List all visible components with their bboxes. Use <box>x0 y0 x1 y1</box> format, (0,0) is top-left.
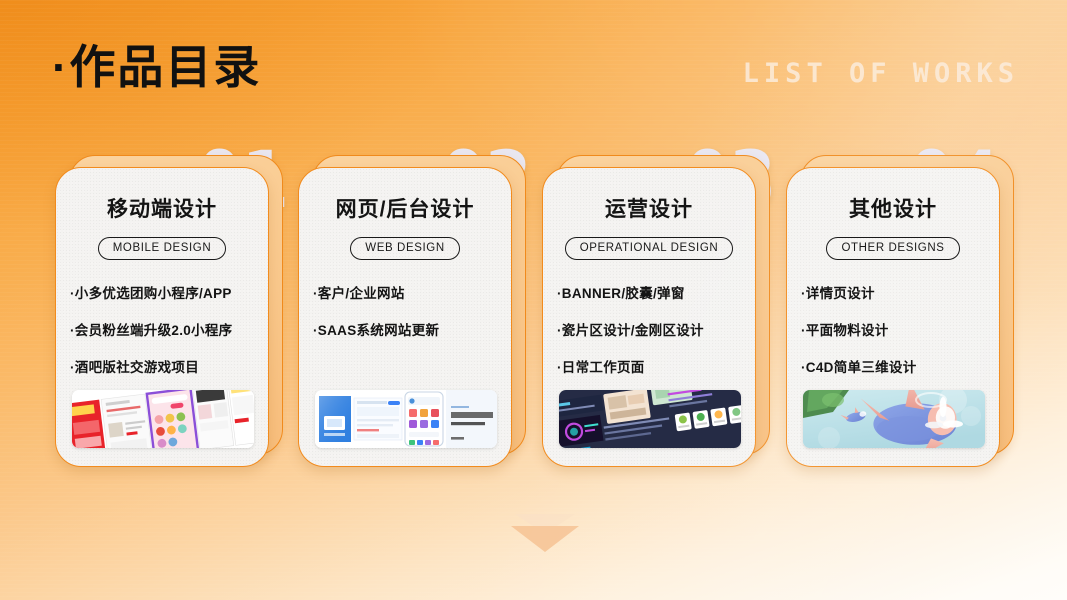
page-eyebrow-label: LIST OF WORKS <box>743 58 1019 89</box>
card-subtitle-pill: MOBILE DESIGN <box>98 237 227 260</box>
work-card-other-design[interactable]: 其他设计 OTHER DESIGNS ·详情页设计 ·平面物料设计 ·C4D简单… <box>786 167 1007 470</box>
card-title: 网页/后台设计 <box>299 193 511 223</box>
card-title: 移动端设计 <box>56 193 268 223</box>
card-subtitle-pill: OTHER DESIGNS <box>826 237 959 260</box>
work-card-operational-design[interactable]: 运营设计 OPERATIONAL DESIGN ·BANNER/胶囊/弹窗 ·瓷… <box>542 167 763 470</box>
card-title: 其他设计 <box>787 193 999 223</box>
card-bullet-item: ·日常工作页面 <box>557 356 755 376</box>
web-saas-screens-thumbnail <box>315 390 497 448</box>
card-bullet-list: ·详情页设计 ·平面物料设计 ·C4D简单三维设计 <box>801 282 999 376</box>
card-face[interactable]: 其他设计 OTHER DESIGNS ·详情页设计 ·平面物料设计 ·C4D简单… <box>786 167 1000 467</box>
card-bullet-item: ·瓷片区设计/金刚区设计 <box>557 319 755 339</box>
operational-banners-thumbnail <box>559 390 741 448</box>
card-bullet-list: ·客户/企业网站 ·SAAS系统网站更新 <box>313 282 511 339</box>
work-card-web-design[interactable]: 网页/后台设计 WEB DESIGN ·客户/企业网站 ·SAAS系统网站更新 <box>298 167 519 470</box>
card-subtitle-pill: WEB DESIGN <box>350 237 459 260</box>
page-title: ·作品目录 <box>52 44 261 90</box>
mobile-app-screens-thumbnail <box>72 390 254 448</box>
card-bullet-item: ·酒吧版社交游戏项目 <box>70 356 268 376</box>
card-face[interactable]: 运营设计 OPERATIONAL DESIGN ·BANNER/胶囊/弹窗 ·瓷… <box>542 167 756 467</box>
card-bullet-item: ·会员粉丝端升级2.0小程序 <box>70 319 268 339</box>
card-bullet-item: ·SAAS系统网站更新 <box>313 319 511 339</box>
card-bullet-item: ·小多优选团购小程序/APP <box>70 282 268 302</box>
card-bullet-item: ·BANNER/胶囊/弹窗 <box>557 282 755 302</box>
work-card-mobile-design[interactable]: 移动端设计 MOBILE DESIGN ·小多优选团购小程序/APP ·会员粉丝… <box>55 167 276 470</box>
card-bullet-item: ·平面物料设计 <box>801 319 999 339</box>
card-bullet-item: ·C4D简单三维设计 <box>801 356 999 376</box>
card-bullet-list: ·BANNER/胶囊/弹窗 ·瓷片区设计/金刚区设计 ·日常工作页面 <box>557 282 755 376</box>
card-bullet-list: ·小多优选团购小程序/APP ·会员粉丝端升级2.0小程序 ·酒吧版社交游戏项目 <box>70 282 268 376</box>
card-bullet-item: ·客户/企业网站 <box>313 282 511 302</box>
card-face[interactable]: 网页/后台设计 WEB DESIGN ·客户/企业网站 ·SAAS系统网站更新 <box>298 167 512 467</box>
double-chevron-down-icon <box>505 512 585 556</box>
c4d-airplane-render-thumbnail <box>803 390 985 448</box>
slide-canvas: ·作品目录 LIST OF WORKS 01 02 03 04 移动端设计 MO… <box>0 0 1067 600</box>
card-face[interactable]: 移动端设计 MOBILE DESIGN ·小多优选团购小程序/APP ·会员粉丝… <box>55 167 269 467</box>
card-bullet-item: ·详情页设计 <box>801 282 999 302</box>
card-title: 运营设计 <box>543 193 755 223</box>
card-subtitle-pill: OPERATIONAL DESIGN <box>565 237 734 260</box>
